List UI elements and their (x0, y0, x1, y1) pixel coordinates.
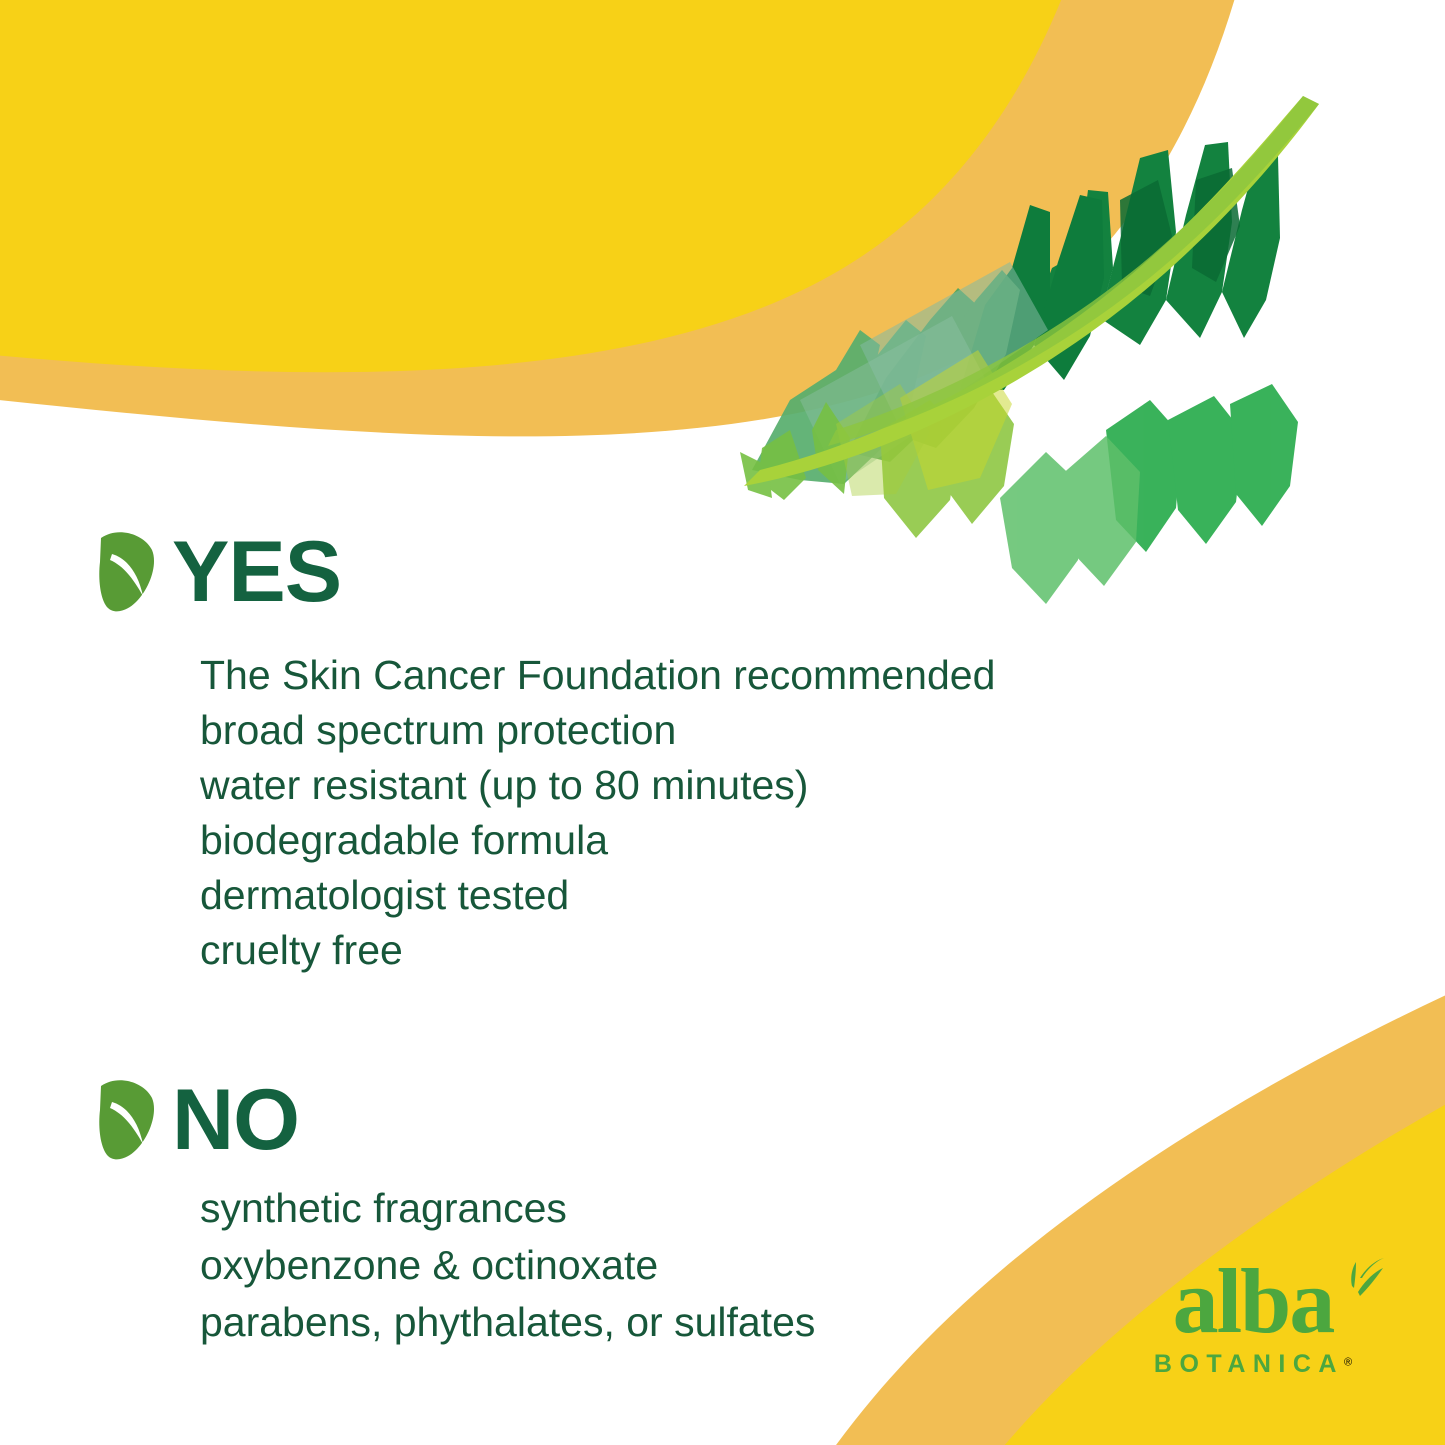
list-item: water resistant (up to 80 minutes) (200, 758, 995, 813)
leaf-icon (96, 1072, 158, 1164)
list-item: dermatologist tested (200, 868, 995, 923)
leaf-icon (96, 524, 158, 616)
brand-leaf-icon (1330, 1256, 1384, 1300)
poster-canvas: YES The Skin Cancer Foundation recommend… (0, 0, 1445, 1445)
registered-mark-icon: ® (1344, 1357, 1352, 1369)
section-yes-title: YES (172, 529, 341, 615)
list-item: synthetic fragrances (200, 1180, 815, 1237)
brand-subtitle-wrap: BOTANICA® (1128, 1344, 1378, 1379)
list-item: parabens, phythalates, or sulfates (200, 1294, 815, 1351)
brand-subtitle: BOTANICA (1154, 1350, 1344, 1379)
list-item: broad spectrum protection (200, 703, 995, 758)
section-yes: YES The Skin Cancer Foundation recommend… (96, 520, 341, 620)
list-item: cruelty free (200, 923, 995, 978)
brand-logo: alba BOTANICA® (1128, 1258, 1378, 1379)
list-item: The Skin Cancer Foundation recommended (200, 648, 995, 703)
list-item: biodegradable formula (200, 813, 995, 868)
section-no-title: NO (172, 1077, 299, 1163)
section-no-header: NO (96, 1068, 299, 1168)
list-item: oxybenzone & octinoxate (200, 1237, 815, 1294)
section-no: NO synthetic fragrances oxybenzone & oct… (96, 1068, 299, 1168)
poster-content: YES The Skin Cancer Foundation recommend… (0, 0, 1445, 1445)
brand-mark: alba (1128, 1258, 1378, 1344)
section-no-list: synthetic fragrances oxybenzone & octino… (200, 1180, 815, 1351)
section-yes-list: The Skin Cancer Foundation recommended b… (200, 648, 995, 978)
section-yes-header: YES (96, 520, 341, 620)
